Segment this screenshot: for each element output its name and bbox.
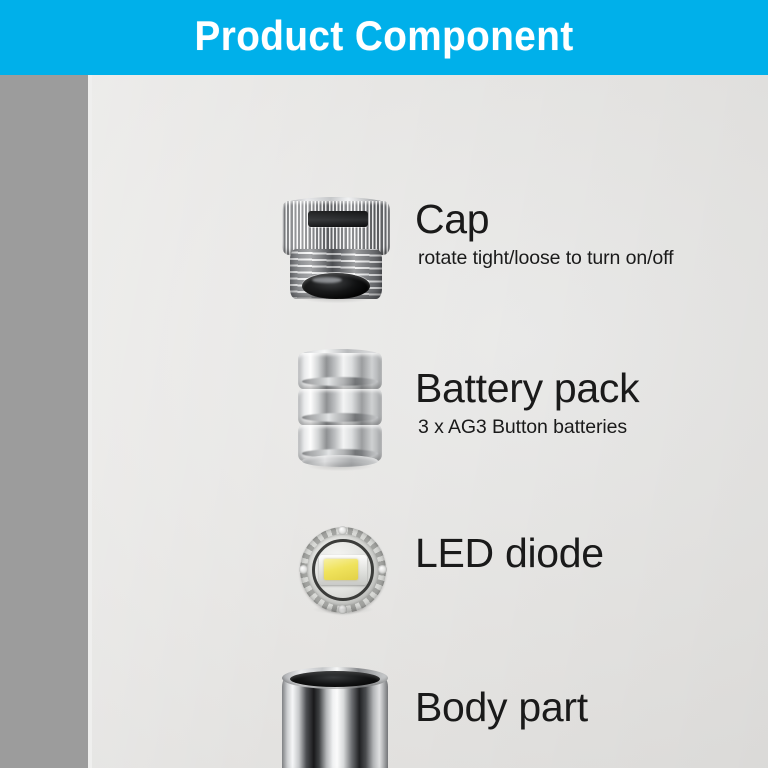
component-title: Cap: [415, 199, 673, 241]
led-diode-image: [300, 527, 386, 613]
content-stage: Cap rotate tight/loose to turn on/off Ba…: [0, 75, 768, 768]
cap-image: [278, 187, 394, 303]
page-title: Product Component: [194, 15, 573, 60]
component-label-cap: Cap rotate tight/loose to turn on/off: [415, 199, 673, 270]
cap-slot-icon: [308, 211, 368, 227]
body-part-image: [278, 665, 392, 768]
component-subtitle: 3 x AG3 Button batteries: [418, 416, 639, 439]
battery-cell-icon: [298, 389, 382, 425]
battery-pack-image: [298, 351, 382, 469]
led-nub-icon: [378, 565, 387, 574]
cap-drop-shadow: [288, 291, 384, 305]
led-phosphor-chip-icon: [324, 559, 358, 580]
component-label-battery: Battery pack 3 x AG3 Button batteries: [415, 368, 639, 439]
left-gray-sidebar: [0, 75, 88, 768]
led-nub-icon: [338, 526, 347, 535]
component-title: Body part: [415, 687, 588, 729]
component-subtitle: rotate tight/loose to turn on/off: [418, 247, 673, 270]
cap-bore-highlight-icon: [312, 277, 342, 283]
battery-cell-rim: [302, 413, 378, 422]
battery-cell-rim: [302, 377, 378, 386]
header-banner: Product Component: [0, 0, 768, 75]
battery-cell-icon: [298, 353, 382, 389]
cap-knurled-ring-icon: [282, 201, 390, 255]
product-component-infographic: Product Component: [0, 0, 768, 768]
led-nub-icon: [299, 565, 308, 574]
component-label-body: Body part: [415, 687, 588, 729]
led-drop-shadow: [302, 603, 384, 616]
body-bore-opening-icon: [290, 671, 380, 687]
component-label-led: LED diode: [415, 533, 604, 575]
component-title: LED diode: [415, 533, 604, 575]
battery-drop-shadow: [296, 459, 384, 473]
component-title: Battery pack: [415, 368, 639, 410]
